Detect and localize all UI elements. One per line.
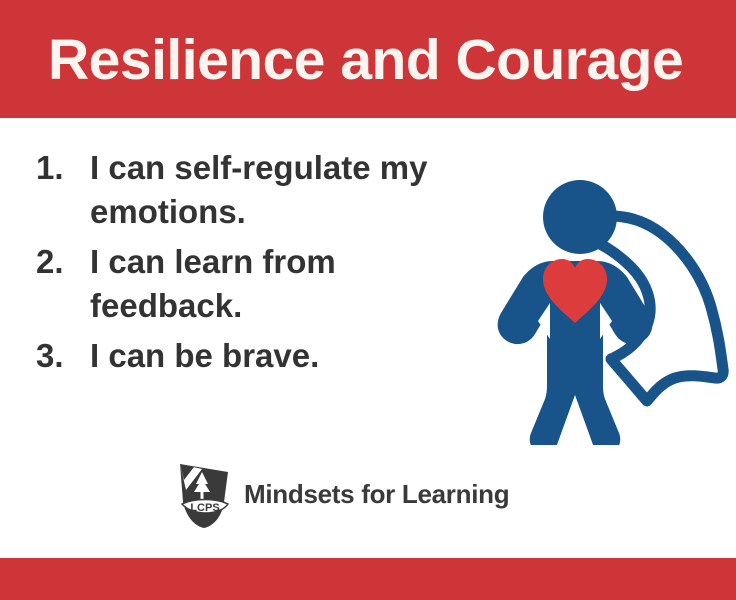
list-item-number: 2. xyxy=(36,240,84,284)
superhero-icon xyxy=(495,175,736,445)
superhero-illustration xyxy=(495,175,736,445)
list-item-label: I can self-regulate my emotions. xyxy=(90,146,470,234)
header-band: Resilience and Courage xyxy=(0,0,736,118)
list-item-number: 3. xyxy=(36,334,84,378)
lcps-shield-icon: LCPS xyxy=(172,458,236,530)
slide-canvas: Resilience and Courage 1. I can self-reg… xyxy=(0,0,736,600)
statement-list: 1. I can self-regulate my emotions. 2. I… xyxy=(0,132,500,422)
head-shape xyxy=(543,180,617,254)
lcps-shield-text: LCPS xyxy=(190,502,219,514)
list-item-number: 1. xyxy=(36,146,84,190)
footer-band xyxy=(0,558,736,600)
list-item-label: I can be brave. xyxy=(90,334,470,378)
list-item-label: I can learn from feedback. xyxy=(90,240,470,328)
page-title: Resilience and Courage xyxy=(48,23,712,97)
logo-wordmark: Mindsets for Learning xyxy=(244,479,509,509)
logo-lockup: LCPS Mindsets for Learning xyxy=(172,458,502,530)
